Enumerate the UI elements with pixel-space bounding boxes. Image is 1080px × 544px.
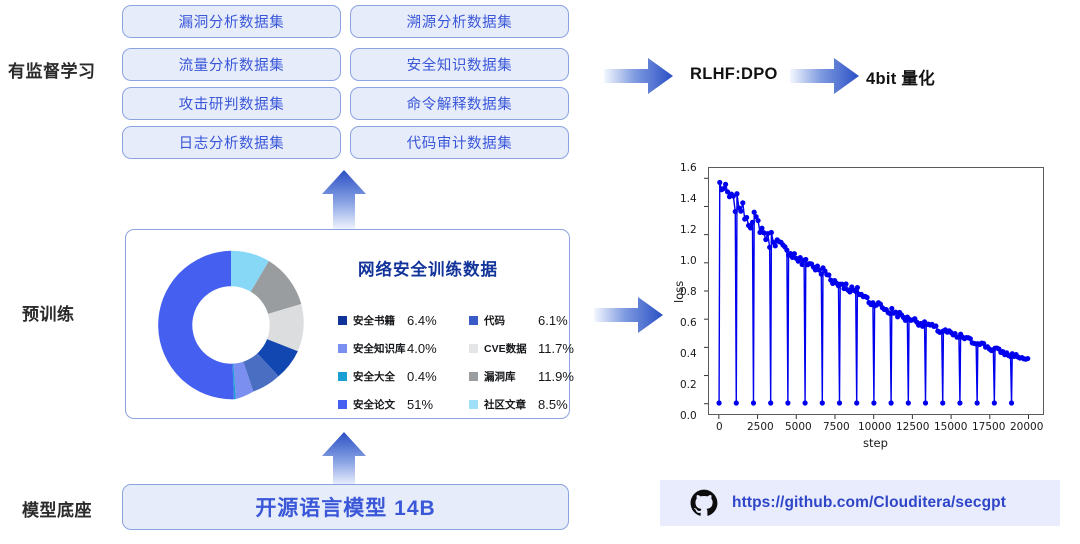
legend-item: 社区文章 8.5%	[469, 390, 578, 418]
dataset-box-traffic-analysis[interactable]: 流量分析数据集	[122, 48, 341, 81]
github-url-text[interactable]: https://github.com/Clouditera/secgpt	[732, 494, 1006, 512]
legend-label: CVE数据	[484, 341, 538, 356]
loss-point	[748, 225, 753, 230]
dataset-box-label: 攻击研判数据集	[179, 93, 285, 114]
github-link-bar[interactable]: https://github.com/Clouditera/secgpt	[660, 480, 1060, 526]
loss-point	[975, 400, 980, 405]
legend-value: 6.4%	[407, 313, 447, 328]
loss-point	[744, 215, 749, 220]
dataset-box-log-analysis[interactable]: 日志分析数据集	[122, 126, 341, 159]
loss-point	[723, 182, 728, 187]
base-model-box[interactable]: 开源语言模型 14B	[122, 484, 569, 530]
legend-value: 6.1%	[538, 313, 578, 328]
y-tick-label: 0.2	[680, 379, 697, 391]
loss-line	[719, 182, 1028, 403]
loss-point	[773, 243, 778, 248]
loss-point	[803, 257, 808, 262]
legend-value: 8.5%	[538, 397, 578, 412]
loss-point	[957, 400, 962, 405]
loss-point	[769, 230, 774, 235]
dataset-box-command-explain[interactable]: 命令解释数据集	[350, 87, 569, 120]
loss-point	[855, 285, 860, 290]
loss-point	[738, 209, 743, 214]
loss-point	[933, 323, 938, 328]
y-tick-label: 1.2	[680, 224, 697, 236]
y-tick-label: 1.0	[680, 255, 697, 267]
legend-swatch-security-papers	[338, 400, 347, 409]
y-tick-label: 0.4	[680, 348, 697, 360]
x-tick-label: 10000	[858, 421, 891, 433]
legend-item: CVE数据 11.7%	[469, 334, 578, 362]
y-tick-label: 1.4	[680, 193, 697, 205]
dataset-box-label: 流量分析数据集	[179, 54, 285, 75]
loss-point	[871, 400, 876, 405]
loss-point	[802, 400, 807, 405]
loss-point	[940, 400, 945, 405]
x-tick-label: 17500	[972, 421, 1005, 433]
legend-item: 安全大全 0.4%	[338, 362, 447, 390]
dataset-box-label: 代码审计数据集	[407, 132, 513, 153]
dataset-box-code-audit[interactable]: 代码审计数据集	[350, 126, 569, 159]
legend-value: 11.7%	[538, 341, 578, 356]
legend-label: 社区文章	[484, 397, 538, 412]
x-tick-label: 0	[716, 421, 723, 433]
y-tick-label: 0.0	[680, 410, 697, 422]
x-tick-label: 15000	[934, 421, 967, 433]
loss-point	[759, 226, 764, 231]
base-model-label: 开源语言模型 14B	[255, 492, 435, 522]
loss-point	[864, 295, 869, 300]
legend-swatch-vuln-db	[469, 372, 478, 381]
arrow-right-to-loss-chart	[594, 296, 664, 334]
legend-label: 代码	[484, 313, 538, 328]
loss-chart-ylabel: loss	[672, 281, 686, 303]
legend-label: 安全知识库	[353, 341, 407, 356]
dataset-box-security-knowledge[interactable]: 安全知识数据集	[350, 48, 569, 81]
y-tick-label: 0.6	[680, 317, 697, 329]
loss-point	[906, 400, 911, 405]
loss-point	[792, 251, 797, 256]
legend-swatch-security-books	[338, 316, 347, 325]
loss-chart: 1.6 1.4 1.2 1.0 0.8 0.6 0.4 0.2 0.0 loss…	[660, 155, 1060, 455]
donut-chart-title: 网络安全训练数据	[358, 256, 498, 280]
donut-hole	[192, 286, 269, 363]
legend-swatch-community-articles	[469, 400, 478, 409]
loss-point	[820, 400, 825, 405]
x-tick-label: 7500	[823, 421, 850, 433]
loss-point	[750, 220, 755, 225]
loss-chart-xlabel: step	[863, 436, 888, 450]
legend-label: 安全大全	[353, 369, 407, 384]
legend-value: 51%	[407, 397, 447, 412]
loss-point	[768, 400, 773, 405]
legend-label: 安全书籍	[353, 313, 407, 328]
dataset-box-traceback-analysis[interactable]: 溯源分析数据集	[350, 5, 569, 38]
legend-value: 11.9%	[538, 369, 578, 384]
legend-value: 0.4%	[407, 369, 447, 384]
legend-item: 安全论文 51%	[338, 390, 447, 418]
dataset-box-vuln-analysis[interactable]: 漏洞分析数据集	[122, 5, 341, 38]
loss-point	[889, 400, 894, 405]
loss-point	[740, 200, 745, 205]
loss-point	[785, 400, 790, 405]
arrow-right-to-quantization	[790, 57, 860, 95]
legend-item: 安全知识库 4.0%	[338, 334, 447, 362]
loss-point	[763, 237, 768, 242]
loss-point	[716, 400, 721, 405]
legend-swatch-security-compendium	[338, 372, 347, 381]
dataset-box-label: 溯源分析数据集	[407, 11, 513, 32]
dataset-box-label: 安全知识数据集	[407, 54, 513, 75]
loss-point	[751, 400, 756, 405]
dataset-box-label: 命令解释数据集	[407, 93, 513, 114]
donut-legend: 安全书籍 6.4% 代码 6.1% 安全知识库 4.0% CVE数据 11.7%…	[338, 306, 563, 418]
dataset-box-label: 日志分析数据集	[179, 132, 285, 153]
x-tick-label: 12500	[896, 421, 929, 433]
stage-label-pretrain: 预训练	[22, 300, 75, 325]
legend-swatch-security-kb	[338, 344, 347, 353]
dataset-box-label: 漏洞分析数据集	[179, 11, 285, 32]
y-tick-label: 1.6	[680, 162, 697, 174]
loss-point	[755, 218, 760, 223]
legend-swatch-code	[469, 316, 478, 325]
loss-point	[717, 180, 722, 185]
x-tick-label: 20000	[1010, 421, 1043, 433]
legend-value: 4.0%	[407, 341, 447, 356]
stage-label-base: 模型底座	[22, 496, 92, 521]
arrow-right-to-rlhf	[604, 57, 674, 95]
loss-point	[752, 210, 757, 215]
loss-point	[734, 191, 739, 196]
loss-chart-series	[708, 167, 1044, 415]
legend-item: 漏洞库 11.9%	[469, 362, 578, 390]
legend-item: 安全书籍 6.4%	[338, 306, 447, 334]
arrow-up-base-to-pretrain	[320, 432, 368, 487]
legend-item: 代码 6.1%	[469, 306, 578, 334]
donut-chart-security-training-data	[152, 246, 310, 404]
loss-point	[767, 245, 772, 250]
pipeline-step-rlhf-dpo: RLHF:DPO	[690, 65, 778, 84]
loss-point	[1009, 400, 1014, 405]
github-icon	[690, 489, 718, 517]
loss-point	[992, 400, 997, 405]
legend-label: 漏洞库	[484, 369, 538, 384]
x-tick-label: 5000	[785, 421, 812, 433]
stage-label-supervised: 有监督学习	[8, 57, 96, 82]
loss-point	[889, 306, 894, 311]
loss-point	[826, 272, 831, 277]
loss-point	[837, 400, 842, 405]
pipeline-step-4bit-quantization: 4bit 量化	[866, 65, 935, 89]
legend-swatch-cve-data	[469, 344, 478, 353]
loss-point	[854, 400, 859, 405]
loss-point	[923, 400, 928, 405]
loss-point	[734, 400, 739, 405]
dataset-box-attack-judgment[interactable]: 攻击研判数据集	[122, 87, 341, 120]
legend-label: 安全论文	[353, 397, 407, 412]
loss-point	[843, 281, 848, 286]
arrow-up-pretrain-to-supervised	[320, 170, 368, 230]
donut-svg	[152, 246, 310, 404]
x-tick-label: 2500	[747, 421, 774, 433]
loss-point	[1025, 356, 1030, 361]
